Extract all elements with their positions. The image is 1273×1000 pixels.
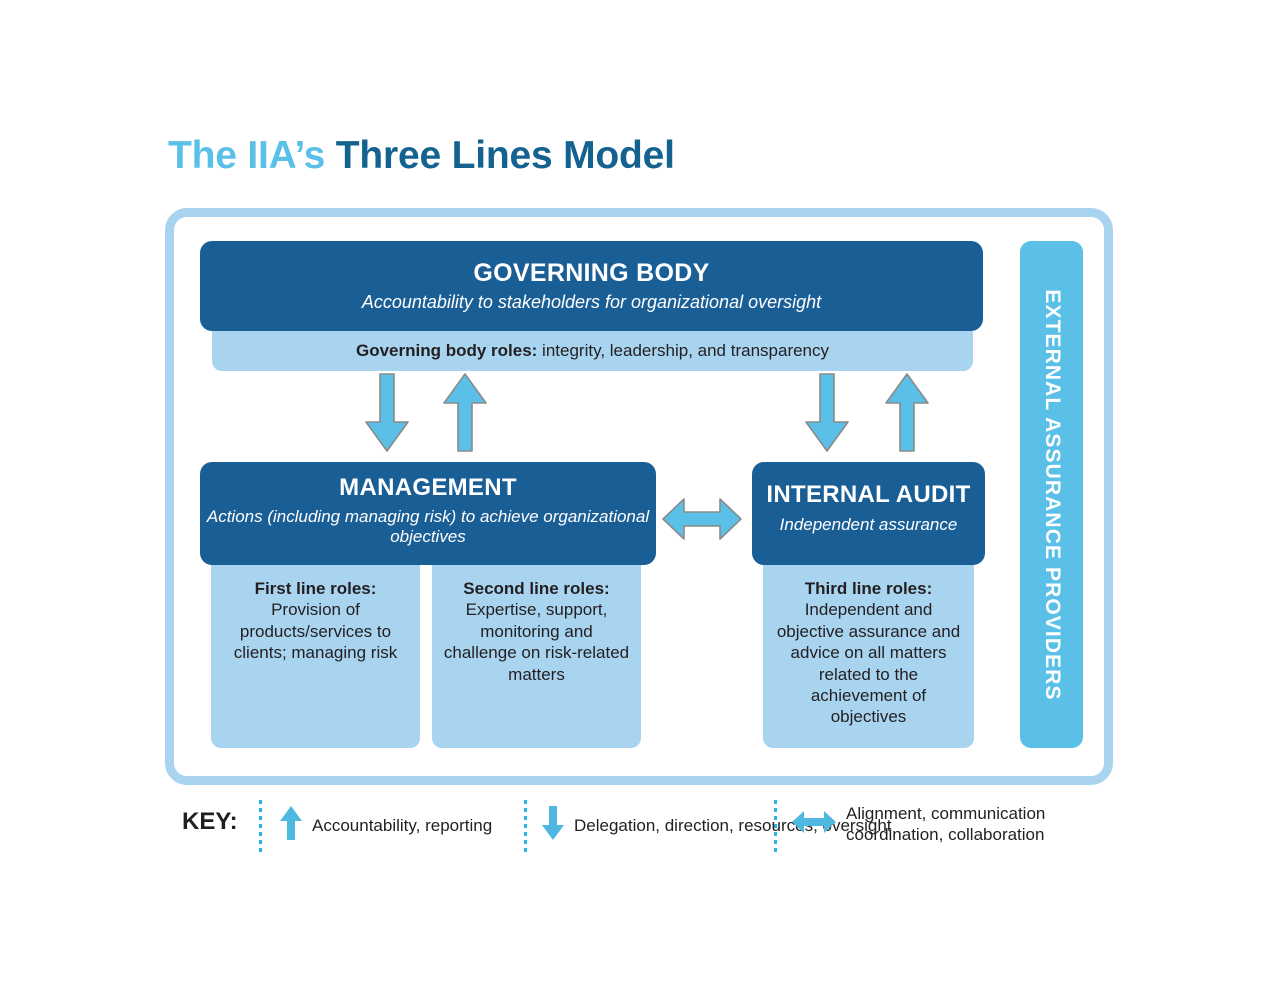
key-item-alignment: Alignment, communication coordination, c… [790, 803, 1112, 846]
third-line-roles-panel[interactable]: Third line roles: Independent and object… [763, 565, 974, 748]
double-arrow-icon [790, 807, 838, 842]
governing-body-roles-band[interactable]: Governing body roles: integrity, leaders… [212, 331, 973, 371]
alignment-double-arrow [660, 495, 744, 543]
key-divider-2 [524, 800, 527, 856]
key-item-accountability-text: Accountability, reporting [312, 815, 492, 836]
key-label: KEY: [182, 808, 238, 836]
second-line-roles-body: Expertise, support, monitoring and chall… [444, 600, 629, 683]
first-line-roles-body: Provision of products/services to client… [234, 600, 397, 662]
key-legend: KEY: Accountability, reporting Delegatio… [182, 797, 1112, 859]
governing-body-roles-label: Governing body roles: [356, 341, 537, 360]
up-arrow-icon [278, 803, 304, 848]
governing-body-heading: GOVERNING BODY [200, 259, 983, 287]
internal-audit-box[interactable]: INTERNAL AUDIT Independent assurance [752, 462, 985, 565]
external-assurance-providers-bar[interactable]: EXTERNAL ASSURANCE PROVIDERS [1020, 241, 1083, 748]
third-line-roles-head: Third line roles: [771, 578, 966, 599]
accountability-up-arrow-internal-audit [882, 372, 932, 454]
second-line-roles-head: Second line roles: [442, 578, 631, 599]
down-arrow-icon [540, 803, 566, 848]
first-line-roles-head: First line roles: [221, 578, 410, 599]
delegation-down-arrow-internal-audit [802, 372, 852, 454]
key-item-alignment-text: Alignment, communication coordination, c… [846, 803, 1112, 846]
page-title: The IIA’s Three Lines Model [168, 134, 675, 178]
key-divider-1 [259, 800, 262, 856]
accountability-up-arrow-management [440, 372, 490, 454]
governing-body-roles-text: integrity, leadership, and transparency [537, 341, 829, 360]
management-heading: MANAGEMENT [200, 475, 656, 502]
delegation-down-arrow-management [362, 372, 412, 454]
management-box[interactable]: MANAGEMENT Actions (including managing r… [200, 462, 656, 565]
internal-audit-subtitle: Independent assurance [752, 515, 985, 535]
external-assurance-providers-label: EXTERNAL ASSURANCE PROVIDERS [1040, 289, 1064, 700]
first-line-roles-panel[interactable]: First line roles: Provision of products/… [211, 565, 420, 748]
second-line-roles-panel[interactable]: Second line roles: Expertise, support, m… [432, 565, 641, 748]
key-item-accountability: Accountability, reporting [278, 803, 492, 848]
third-line-roles-body: Independent and objective assurance and … [777, 600, 960, 726]
title-light-part: The IIA’s [168, 134, 336, 177]
governing-body-subtitle: Accountability to stakeholders for organ… [200, 292, 983, 313]
internal-audit-heading: INTERNAL AUDIT [752, 482, 985, 509]
governing-body-box[interactable]: GOVERNING BODY Accountability to stakeho… [200, 241, 983, 331]
title-dark-part: Three Lines Model [336, 134, 675, 177]
management-subtitle: Actions (including managing risk) to ach… [200, 507, 656, 547]
